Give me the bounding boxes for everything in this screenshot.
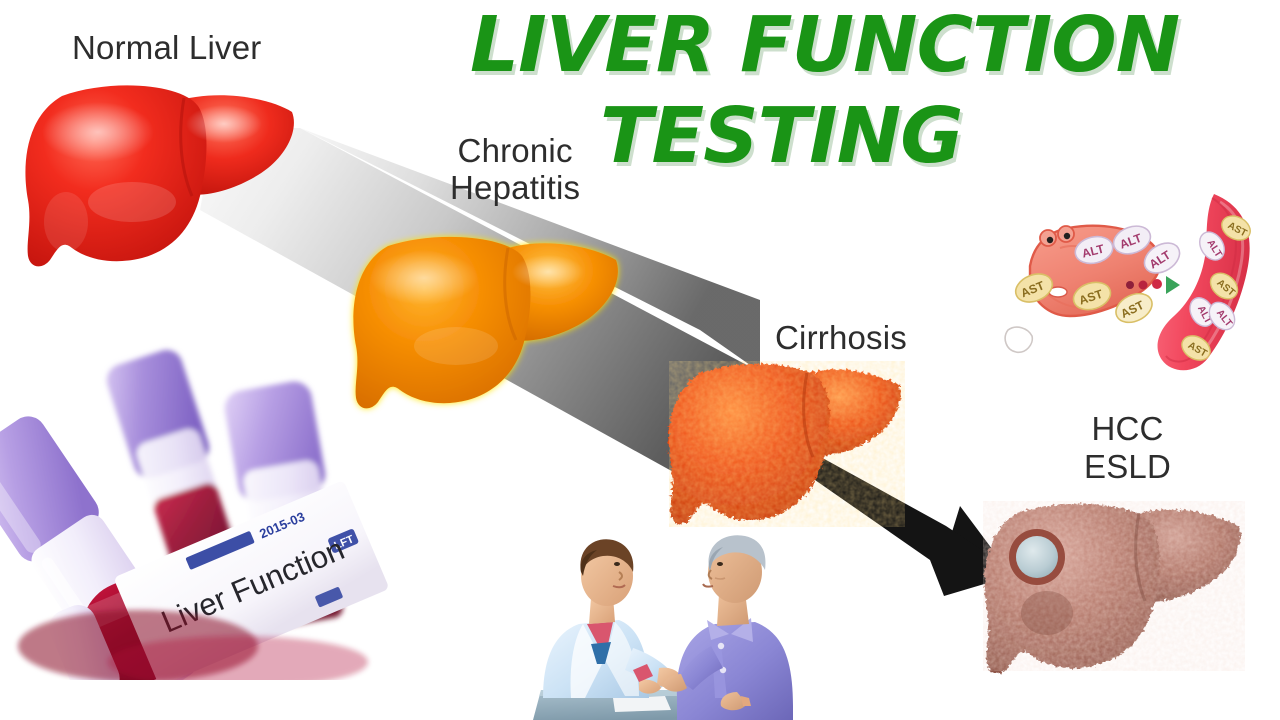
cirrhosis-liver-illustration [655,355,910,545]
ast-alt-enzyme-illustration: AST AST ALT ALT ALT AST [1000,188,1262,393]
doctor-patient-consultation-illustration [515,528,815,720]
title-line-1: LIVER FUNCTION [470,8,1230,83]
patient-figure [663,535,793,720]
infographic-canvas: LIVER FUNCTION TESTING Normal Liver Chro… [0,0,1280,720]
hcc-esld-liver-illustration [965,495,1250,685]
stage-label-cirrhosis: Cirrhosis [775,320,907,357]
normal-liver-illustration [2,72,302,290]
blood-collection-tubes: 3.0 mL 2015-03 LFT Liver Function [0,340,418,680]
tumor-nodule [1009,529,1065,585]
stage-label-hcc-esld: HCC ESLD [1084,410,1171,486]
doctor-figure [543,539,683,698]
stage-label-hcc-line1: HCC [1084,410,1171,448]
page-title: LIVER FUNCTION TESTING [470,8,1230,175]
stage-label-hcc-line2: ESLD [1084,448,1171,486]
stage-label-chronic-line2: Hepatitis [450,170,580,207]
stage-label-normal-liver: Normal Liver [72,30,261,67]
title-line-2: TESTING [600,99,1230,174]
